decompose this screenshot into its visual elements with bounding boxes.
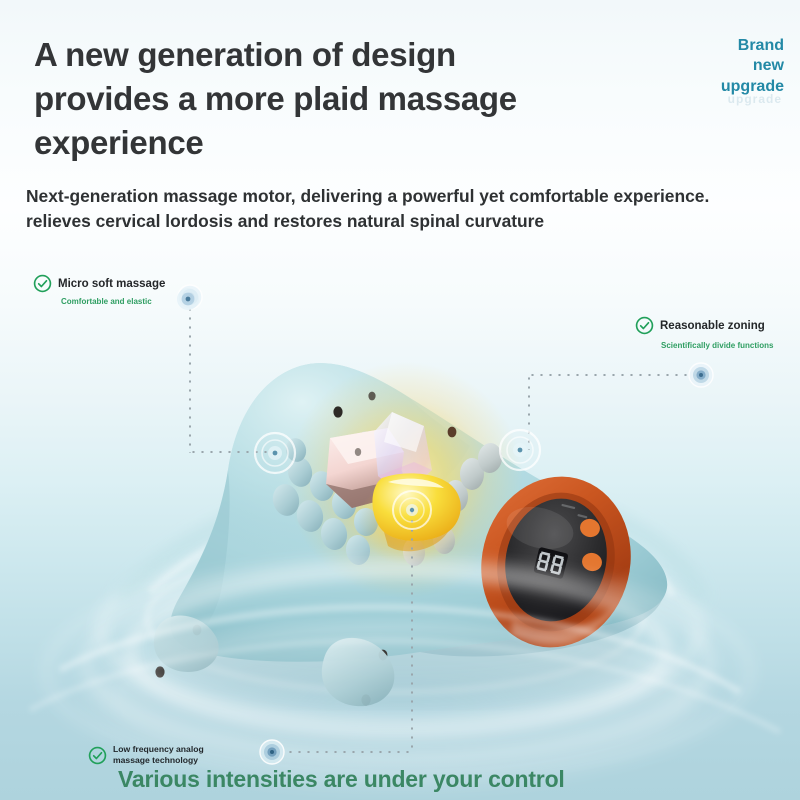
callout-subtitle: Comfortable and elastic bbox=[61, 297, 165, 306]
callout-reasonable-zoning: Reasonable zoning Scientifically divide … bbox=[635, 316, 773, 350]
green-check-circle-icon bbox=[33, 274, 52, 293]
callout-title: Micro soft massage bbox=[58, 278, 165, 290]
brand-upgrade-badge: Brand new upgrade bbox=[654, 36, 784, 97]
leader-line-lowfreq-horizontal bbox=[286, 751, 412, 753]
callout-subtitle: Scientifically divide functions bbox=[661, 341, 773, 350]
brand-badge-line1: Brand bbox=[654, 36, 784, 56]
leader-line-zoning-horizontal bbox=[528, 374, 700, 376]
leader-marker-lowfreq-source bbox=[259, 739, 285, 765]
leader-marker-zoning-target bbox=[498, 428, 542, 472]
page-title: A new generation of design provides a mo… bbox=[34, 33, 594, 165]
page-subtitle: Next-generation massage motor, deliverin… bbox=[26, 184, 778, 233]
bottom-headline: Various intensities are under your contr… bbox=[118, 766, 565, 793]
callout-low-frequency-analog-massage: Low frequency analog massage technology bbox=[88, 744, 238, 766]
neck-massager-device bbox=[0, 300, 800, 770]
brand-badge-reflection: upgrade bbox=[654, 92, 782, 106]
green-check-circle-icon bbox=[88, 746, 107, 765]
leader-line-lowfreq-vertical bbox=[411, 508, 413, 752]
callout-title: Reasonable zoning bbox=[660, 320, 765, 332]
leader-line-micro-vertical bbox=[189, 305, 191, 453]
leader-marker-zoning-source bbox=[688, 362, 714, 388]
green-check-circle-icon bbox=[635, 316, 654, 335]
brand-badge-line2: new bbox=[654, 56, 784, 76]
callout-title: Low frequency analog massage technology bbox=[113, 744, 238, 766]
leader-marker-micro-target bbox=[253, 431, 297, 475]
callout-micro-soft-massage: Micro soft massage Comfortable and elast… bbox=[33, 274, 165, 306]
leader-marker-lowfreq-target bbox=[390, 488, 434, 532]
callout-marker-micro-label bbox=[175, 286, 201, 312]
